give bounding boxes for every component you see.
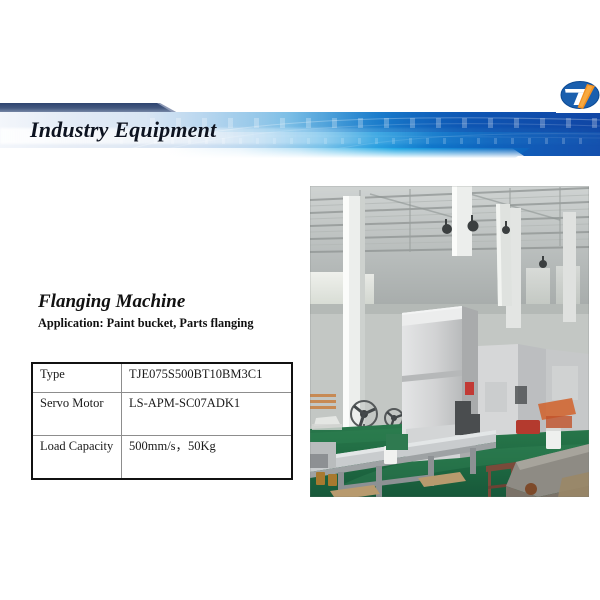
spec-label: Servo Motor [32, 393, 122, 436]
header-foot-notch [0, 148, 600, 160]
spec-table: Type TJE075S500BT10BM3C1 Servo Motor LS-… [31, 362, 293, 480]
header-banner: Industry Equipment [0, 78, 600, 178]
table-row: Servo Motor LS-APM-SC07ADK1 [32, 393, 292, 436]
equipment-photo-illustration [310, 186, 589, 497]
table-row: Type TJE075S500BT10BM3C1 [32, 363, 292, 393]
company-logo-icon [556, 80, 600, 113]
equipment-photo [310, 186, 589, 497]
slide-canvas: Industry Equipment Flanging Machine Appl… [0, 0, 600, 600]
page-title: Industry Equipment [30, 117, 216, 143]
company-logo [556, 80, 600, 113]
spec-value: 500mm/s，50Kg [122, 436, 293, 480]
spec-value: LS-APM-SC07ADK1 [122, 393, 293, 436]
header-tick-texture [150, 118, 600, 128]
product-application: Application: Paint bucket, Parts flangin… [38, 316, 270, 332]
spec-label: Type [32, 363, 122, 393]
spec-value: TJE075S500BT10BM3C1 [122, 363, 293, 393]
spec-label: Load Capacity [32, 436, 122, 480]
product-title: Flanging Machine [38, 291, 185, 313]
table-row: Load Capacity 500mm/s，50Kg [32, 436, 292, 480]
